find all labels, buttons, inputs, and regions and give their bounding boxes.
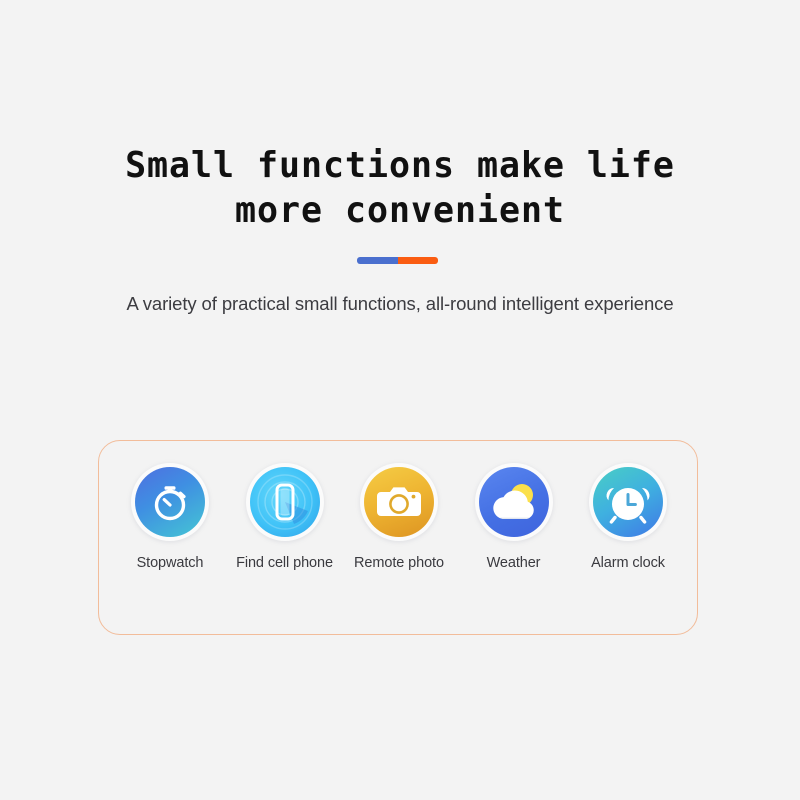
feature-label: Alarm clock	[591, 555, 665, 571]
find-phone-icon	[250, 467, 320, 537]
feature-item-stopwatch[interactable]: Stopwatch	[120, 463, 220, 571]
headline-line-1: Small functions make life	[12, 143, 788, 188]
feature-item-weather[interactable]: Weather	[464, 463, 564, 571]
camera-icon	[364, 467, 434, 537]
page-headline: Small functions make life more convenien…	[12, 143, 788, 233]
divider-blue-segment	[357, 257, 398, 264]
promo-page: Small functions make life more convenien…	[0, 0, 800, 800]
features-card: Stopwatch Find	[98, 440, 698, 635]
icon-halo	[246, 463, 324, 541]
divider-orange-segment	[398, 257, 438, 264]
icon-halo	[475, 463, 553, 541]
icon-halo	[360, 463, 438, 541]
icon-halo	[131, 463, 209, 541]
weather-sun-cloud-icon	[479, 467, 549, 537]
feature-icon-row: Stopwatch Find	[99, 463, 699, 571]
icon-halo	[589, 463, 667, 541]
alarm-clock-icon	[593, 467, 663, 537]
feature-label: Remote photo	[354, 555, 444, 571]
stopwatch-icon	[135, 467, 205, 537]
accent-divider	[357, 257, 438, 264]
feature-item-find-cell-phone[interactable]: Find cell phone	[235, 463, 335, 571]
page-subtitle: A variety of practical small functions, …	[0, 293, 800, 315]
feature-label: Find cell phone	[236, 555, 333, 571]
headline-line-2: more convenient	[12, 188, 788, 233]
feature-label: Stopwatch	[137, 555, 204, 571]
feature-item-alarm-clock[interactable]: Alarm clock	[578, 463, 678, 571]
feature-label: Weather	[487, 555, 541, 571]
feature-item-remote-photo[interactable]: Remote photo	[349, 463, 449, 571]
